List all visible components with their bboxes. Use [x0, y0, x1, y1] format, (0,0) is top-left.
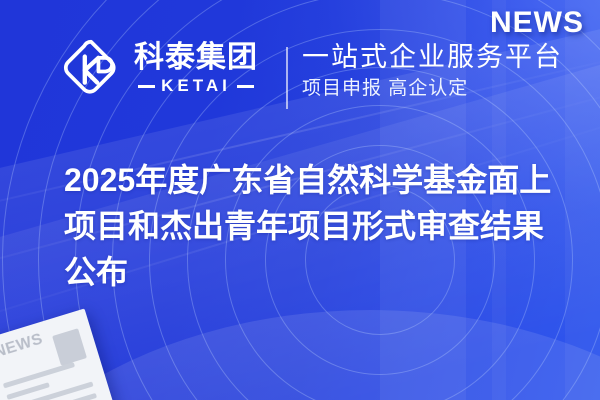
banner-header: 科泰集团 KETAI 一站式企业服务平台 项目申报 高企认定 NEWS [0, 0, 600, 128]
page-title: 2025年度广东省自然科学基金面上项目和杰出青年项目形式审查结果公布 [64, 157, 574, 295]
brand-name-en: KETAI [161, 76, 231, 96]
tagline-sub: 项目申报 高企认定 [302, 78, 563, 101]
header-divider [286, 47, 288, 109]
newspaper-illustration: NEWS [0, 308, 115, 400]
ketai-kp-monogram-icon [60, 38, 122, 100]
news-badge: NEWS [490, 6, 584, 40]
news-banner: 科泰集团 KETAI 一站式企业服务平台 项目申报 高企认定 NEWS 2025… [0, 0, 600, 400]
tagline-block: 一站式企业服务平台 项目申报 高企认定 [302, 42, 563, 101]
right-dash-icon [237, 85, 254, 88]
brand-name-en-row: KETAI [134, 76, 258, 96]
brand-logo[interactable]: 科泰集团 KETAI [60, 38, 258, 100]
brand-name-cn: 科泰集团 [134, 42, 258, 74]
brand-wordmark: 科泰集团 KETAI [134, 42, 258, 97]
left-dash-icon [138, 85, 155, 88]
tagline-main: 一站式企业服务平台 [302, 42, 563, 74]
